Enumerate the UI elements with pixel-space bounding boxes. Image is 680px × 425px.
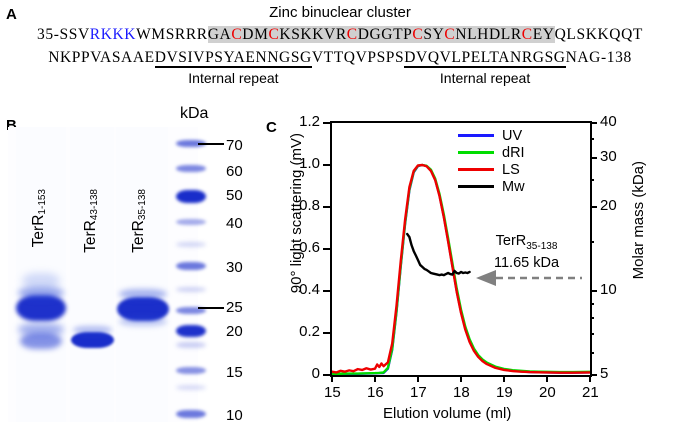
internal-repeat-label-1: Internal repeat: [188, 70, 278, 86]
x-axis-tick-label: 17: [410, 384, 426, 401]
x-axis-tick: [374, 375, 376, 382]
gel-marker-band: [176, 242, 206, 247]
x-axis-tick-label: 21: [582, 384, 598, 401]
gel-marker-band: [176, 325, 206, 337]
legend-label: dRI: [502, 145, 525, 161]
gel-marker-band: [176, 410, 206, 418]
y-axis-title: 90° light scattering (mV): [288, 133, 305, 293]
gel-marker-label: 15: [226, 364, 243, 381]
gel-marker-label: 10: [226, 407, 243, 424]
y2-axis-title: Molar mass (kDa): [630, 161, 647, 279]
gel-lane-range: 43-138: [89, 189, 100, 220]
gel-lane-label: TerR43-138: [82, 189, 100, 253]
gel-image: TerR1-153TerR43-138TerR35-138: [8, 127, 198, 422]
legend-item: UV: [458, 127, 525, 144]
y2-axis-minor-tick: [590, 179, 594, 181]
gel-lane-label: TerR1-153: [30, 189, 48, 247]
gel-marker-leader-line: [198, 143, 224, 145]
panel-c-secmals-chart: C 00.20.40.60.81.01.25102030401516171819…: [262, 105, 680, 425]
y-axis-tick: [323, 206, 330, 208]
gel-marker-band: [176, 367, 206, 374]
gel-marker-band: [176, 219, 206, 225]
x-axis-title: Elution volume (ml): [383, 405, 511, 422]
y-axis-tick: [323, 374, 330, 376]
sequence-residues: VTTQVPSPS: [312, 49, 404, 66]
gel-lane-name: TerR: [82, 220, 99, 253]
cysteine-residue: C: [522, 26, 533, 43]
y-axis-tick: [323, 290, 330, 292]
sequence-residues: SY: [423, 26, 444, 43]
y2-axis-tick-label: 20: [600, 197, 617, 214]
gel-kda-header: kDa: [180, 105, 208, 123]
gel-lane: [70, 127, 114, 422]
gel-marker-band: [176, 262, 206, 270]
gel-band: [119, 317, 167, 326]
y-axis-tick: [323, 332, 330, 334]
y2-axis-tick: [590, 122, 597, 124]
mass-annotation: TerR35-13811.65 kDa: [494, 233, 559, 272]
y-axis-tick-label: 1.2: [299, 113, 320, 130]
sequence-residues: QLSKKQQT: [555, 26, 643, 43]
x-axis-tick-label: 16: [367, 384, 383, 401]
legend-swatch: [458, 151, 494, 154]
cysteine-residue: C: [231, 26, 242, 43]
sequence-residues: GA: [208, 26, 232, 43]
sequence-residues: NAG: [566, 49, 601, 66]
gel-marker-band: [176, 287, 206, 292]
y-axis-tick-label: 0: [312, 365, 320, 382]
gel-lane-label: TerR35-138: [130, 189, 148, 253]
y2-axis-tick: [590, 157, 597, 159]
cysteine-residue: C: [347, 26, 358, 43]
chart-series-mw: [407, 234, 469, 275]
cysteine-residue: C: [412, 26, 423, 43]
x-axis-tick-label: 20: [539, 384, 555, 401]
annotation-protein-name: TerR35-138: [494, 233, 559, 255]
sequence-residues: SSV: [60, 26, 90, 43]
gel-marker-label: 50: [226, 187, 243, 204]
gel-marker-label: 60: [226, 163, 243, 180]
gel-band: [22, 273, 60, 289]
chart-legend: UVdRILSMw: [458, 127, 525, 195]
cysteine-residue: C: [444, 26, 455, 43]
internal-repeat-1: DVSIVPSYAENNGSG: [155, 49, 312, 68]
cysteine-residue: C: [268, 26, 279, 43]
x-axis-tick: [417, 375, 419, 382]
panel-c-letter: C: [266, 119, 277, 136]
zinc-cluster-highlight: GACDMCKSKKVRCDGGTPCSYCNLHDLRCEY: [208, 26, 555, 43]
gel-marker-label: 70: [226, 137, 243, 154]
x-axis-tick-label: 15: [324, 384, 340, 401]
gel-marker-label: 30: [226, 259, 243, 276]
y2-axis-tick-label: 10: [600, 281, 617, 298]
y2-axis-minor-tick: [590, 317, 594, 319]
sequence-residues: DM: [242, 26, 268, 43]
legend-item: LS: [458, 161, 525, 178]
x-axis-tick: [460, 375, 462, 382]
gel-band: [119, 289, 167, 299]
y2-axis-tick-label: 30: [600, 148, 617, 165]
y2-axis-tick-label: 5: [600, 365, 608, 382]
legend-item: Mw: [458, 178, 525, 195]
sequence-residues: KSKKVR: [279, 26, 346, 43]
x-axis-tick-label: 19: [496, 384, 512, 401]
gel-marker-label: 20: [226, 323, 243, 340]
legend-label: LS: [502, 162, 520, 178]
y2-axis-minor-tick: [590, 241, 594, 243]
internal-repeat-labels: Internal repeat Internal repeat: [0, 70, 680, 90]
gel-marker-band: [176, 190, 206, 203]
sequence-start-number: 35-: [37, 26, 59, 43]
y-axis-tick: [323, 164, 330, 166]
gel-marker-leader-line: [198, 307, 224, 309]
y2-axis-minor-tick: [590, 333, 594, 335]
x-axis-tick: [331, 375, 333, 382]
y2-axis-minor-tick: [590, 352, 594, 354]
gel-band: [20, 333, 62, 349]
legend-label: UV: [502, 128, 522, 144]
legend-item: dRI: [458, 144, 525, 161]
y2-axis-tick: [590, 374, 597, 376]
x-axis-tick: [503, 375, 505, 382]
sequence-residues: WMSRRR: [136, 26, 208, 43]
zinc-cluster-title: Zinc binuclear cluster: [0, 4, 680, 21]
x-axis-tick: [546, 375, 548, 382]
y2-axis-minor-tick: [590, 303, 594, 305]
sequence-residues: DGGTP: [358, 26, 413, 43]
sequence-line-1: 35-SSVRKKKWMSRRRGACDMCKSKKVRCDGGTPCSYCNL…: [0, 26, 680, 44]
gel-lane-name: TerR: [30, 215, 47, 248]
y2-axis-minor-tick: [590, 138, 594, 140]
panel-b-gel: B kDa TerR1-153TerR43-138TerR35-138 7060…: [0, 105, 262, 425]
gel-marker-label: 40: [226, 215, 243, 232]
gel-band: [73, 326, 112, 334]
figure-root: A Zinc binuclear cluster 35-SSVRKKKWMSRR…: [0, 0, 680, 425]
sequence-residues: EY: [533, 26, 555, 43]
gel-lane-range: 1-153: [37, 189, 48, 215]
sequence-end-number: -138: [601, 49, 632, 66]
gel-lane: [116, 127, 168, 422]
gel-lane-name: TerR: [130, 220, 147, 253]
basic-residues: RKKK: [90, 26, 136, 43]
internal-repeat-label-2: Internal repeat: [440, 70, 530, 86]
arrow-head: [476, 270, 496, 286]
legend-label: Mw: [502, 179, 525, 195]
legend-swatch: [458, 168, 494, 171]
y2-axis-tick-label: 40: [600, 113, 617, 130]
legend-swatch: [458, 134, 494, 137]
y-axis-tick: [323, 248, 330, 250]
gel-marker-band: [176, 385, 206, 390]
sequence-residues: NKPPVASAAE: [48, 49, 155, 66]
legend-swatch: [458, 185, 494, 188]
sequence-line-2: NKPPVASAAEDVSIVPSYAENNGSGVTTQVPSPSDVQVLP…: [0, 49, 680, 67]
x-axis-tick: [589, 375, 591, 382]
y-axis-tick-label: 0.2: [299, 323, 320, 340]
annotation-arrow-icon: [474, 268, 584, 288]
internal-repeat-2: DVQVLPELTANRGSG: [404, 49, 565, 68]
y-axis-tick: [323, 122, 330, 124]
sequence-residues: NLHDLR: [455, 26, 521, 43]
y2-axis-tick: [590, 290, 597, 292]
panel-a-sequence: A Zinc binuclear cluster 35-SSVRKKKWMSRR…: [0, 0, 680, 105]
gel-marker-label: 25: [226, 299, 243, 316]
y2-axis-tick: [590, 206, 597, 208]
x-axis-tick-label: 18: [453, 384, 469, 401]
gel-lane-range: 35-138: [137, 189, 148, 220]
gel-band: [71, 332, 114, 348]
gel-marker-band: [176, 342, 206, 348]
gel-marker-band: [176, 165, 206, 172]
